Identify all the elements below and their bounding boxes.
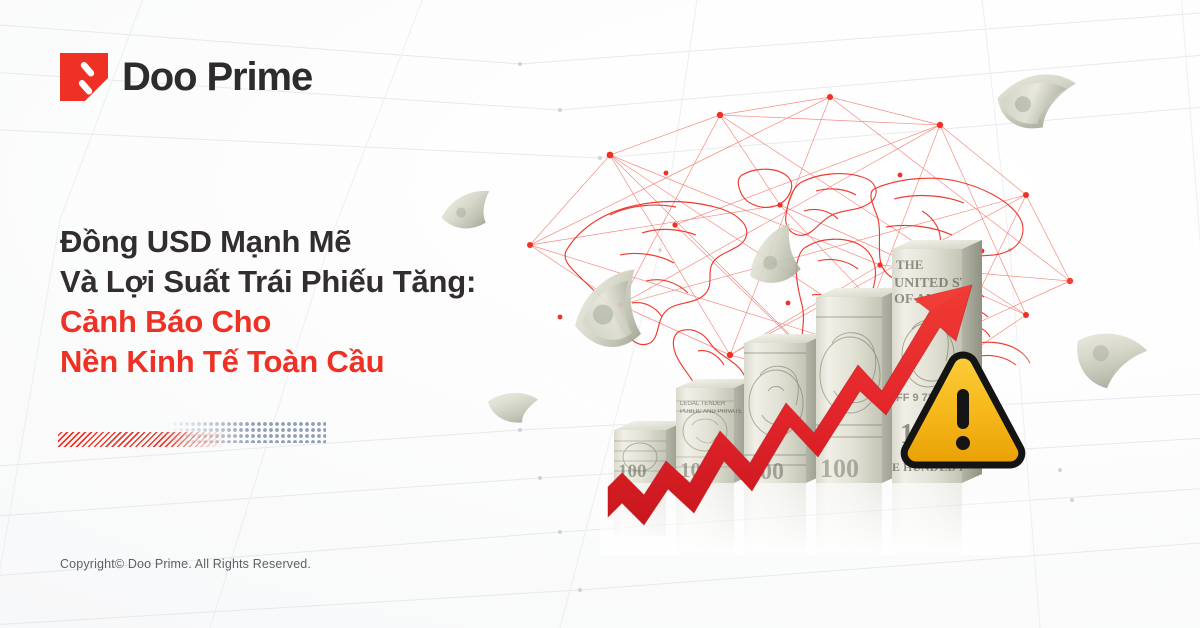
svg-text:100: 100 <box>820 454 859 483</box>
bar-4: 100 <box>812 288 902 483</box>
bar-1: 100 <box>610 421 686 483</box>
svg-text:E HUND ED DO: E HUND ED DO <box>892 460 977 474</box>
svg-text:100: 100 <box>618 461 647 482</box>
banner-canvas: 100 LEGAL TENDER PUBLIC AND PRIVATE 100 <box>0 0 1200 628</box>
brand-logo[interactable]: Doo Prime <box>60 53 312 101</box>
copyright-text: Copyright© Doo Prime. All Rights Reserve… <box>60 557 311 571</box>
svg-text:OF AMERIC: OF AMERIC <box>894 292 974 307</box>
brand-name: Doo Prime <box>122 57 312 97</box>
dollar-bill-bar-chart: 100 LEGAL TENDER PUBLIC AND PRIVATE 100 <box>600 225 1030 555</box>
world-map-network-globe <box>470 55 1090 455</box>
svg-text:100: 100 <box>680 458 712 482</box>
diagonal-hatch-pattern <box>58 432 226 447</box>
warning-triangle-icon <box>904 355 1022 465</box>
doo-prime-logo-mark-icon <box>60 53 108 101</box>
headline-block: Đồng USD Mạnh Mẽ Và Lợi Suất Trái Phiếu … <box>60 222 476 382</box>
svg-text:LEGAL TENDER: LEGAL TENDER <box>680 401 726 407</box>
svg-text:100: 100 <box>748 459 784 485</box>
headline-line-3: Cảnh Báo Cho <box>60 302 476 342</box>
bar-2: LEGAL TENDER PUBLIC AND PRIVATE 100 <box>672 379 754 483</box>
red-upward-trend-arrow <box>608 285 972 525</box>
svg-text:PUBLIC AND PRIVATE: PUBLIC AND PRIVATE <box>680 409 742 415</box>
bar-3: 100 <box>740 334 826 485</box>
svg-text:100: 100 <box>900 419 942 450</box>
decorative-pattern-bar <box>58 420 324 450</box>
headline-line-2: Và Lợi Suất Trái Phiếu Tăng: <box>60 262 476 302</box>
svg-text:UNITED STAT: UNITED STAT <box>894 276 987 291</box>
headline-line-1: Đồng USD Mạnh Mẽ <box>60 222 476 262</box>
svg-text:THE: THE <box>896 257 923 272</box>
svg-text:FF 9 731: FF 9 731 <box>896 392 940 404</box>
headline-line-4: Nền Kinh Tế Toàn Cầu <box>60 342 476 382</box>
bar-5: THE UNITED STAT OF AMERIC FF 9 731 100 E… <box>892 240 987 483</box>
